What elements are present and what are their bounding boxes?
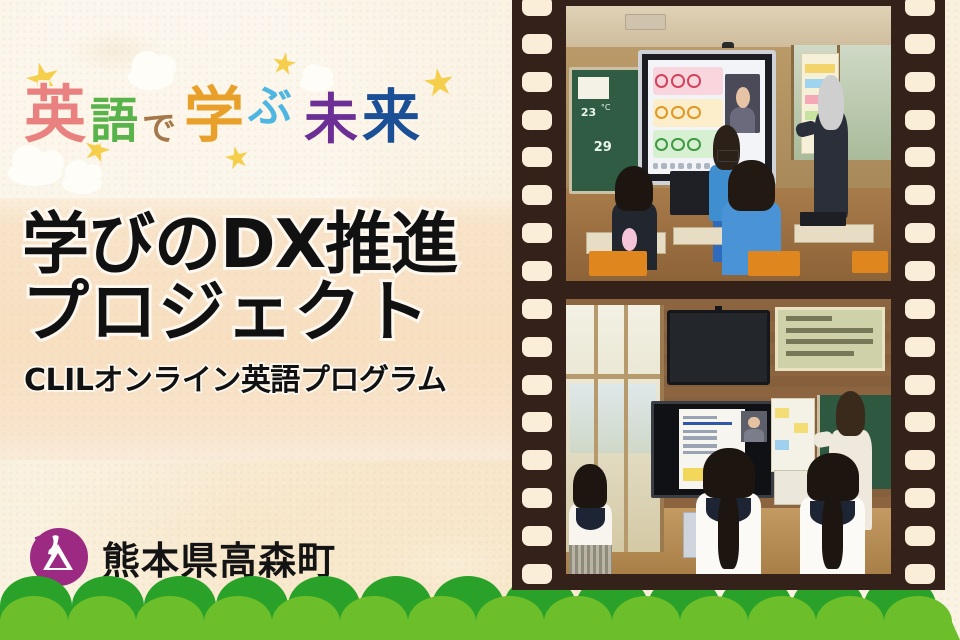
sprocket-hole <box>905 185 935 205</box>
sprocket-hole <box>522 185 552 205</box>
sprocket-hole <box>905 412 935 432</box>
headline-char-7: 来 <box>362 90 420 145</box>
sprocket-hole <box>905 337 935 357</box>
filmstrip-sprockets-left <box>522 0 552 590</box>
laptop <box>800 212 846 226</box>
junior-high-clil-lesson-photo: 中学校の教室：大型ディスプレイに資料とオンライン講師の映像、セーラー服の生徒が視… <box>566 299 891 574</box>
sprocket-hole <box>522 299 552 319</box>
student-center-ponytail <box>696 448 761 575</box>
headline-char-2: 語 <box>90 99 138 145</box>
sprocket-hole <box>522 0 552 16</box>
cloud-icon <box>8 160 62 186</box>
sprocket-hole <box>905 0 935 16</box>
sprocket-hole <box>905 147 935 167</box>
sprocket-hole <box>905 261 935 281</box>
filmstrip: 小学校の教室：電子黒板にオンライン英語のフォニックス教材と講師の映像が表示され、… <box>512 0 945 590</box>
banner-line-2: 自ら学び考え行動する 生徒の育成 <box>778 310 779 311</box>
sprocket-hole <box>905 110 935 130</box>
sprocket-hole <box>905 564 935 584</box>
sprocket-hole <box>522 564 552 584</box>
headline-char-5: ぶ <box>248 86 292 128</box>
sprocket-hole <box>522 375 552 395</box>
sprocket-hole <box>522 34 552 54</box>
page-title-line-1: 学びのDX推進 <box>22 210 457 278</box>
sprocket-hole <box>522 450 552 470</box>
sprocket-hole <box>522 223 552 243</box>
webcam-icon <box>722 42 734 48</box>
elementary-clil-lesson-photo: 小学校の教室：電子黒板にオンライン英語のフォニックス教材と講師の映像が表示され、… <box>566 6 891 281</box>
banner-line-1: ふるさとを愛し 夢の実現に向け <box>778 310 779 311</box>
page-title-line-2: プロジェクト <box>22 278 457 346</box>
sprocket-hole <box>905 223 935 243</box>
student-right-ponytail <box>800 453 865 574</box>
headline-eigo-de-manabu-mirai: 英 語 で 学 ぶ 未 来 <box>24 86 420 145</box>
student-left-sailor-uniform <box>569 464 611 574</box>
sprocket-hole <box>522 110 552 130</box>
poster-canvas: 英 語 で 学 ぶ 未 来 学びのDX推進 プロジェクト CLILオンライン英語… <box>0 0 960 640</box>
sprocket-hole <box>522 261 552 281</box>
sprocket-hole <box>905 299 935 319</box>
sprocket-hole <box>522 337 552 357</box>
sprocket-hole <box>522 526 552 546</box>
sprocket-hole <box>905 375 935 395</box>
school-goal-banner: 学校教育目標 ふるさとを愛し 夢の実現に向け 自ら学び考え行動する 生徒の育成 <box>775 307 885 371</box>
cloud-icon <box>62 172 102 194</box>
sprocket-hole <box>522 72 552 92</box>
banner-heading: 学校教育目標 <box>778 310 779 311</box>
sprocket-hole <box>905 72 935 92</box>
sprocket-hole <box>905 488 935 508</box>
title-block: 学びのDX推進 プロジェクト CLILオンライン英語プログラム <box>22 210 457 399</box>
sprocket-hole <box>522 147 552 167</box>
filmstrip-sprockets-right <box>905 0 935 590</box>
headline-char-1: 英 <box>24 86 86 145</box>
chalkboard-temperature: 23 <box>581 106 596 119</box>
chalkboard-unit: °C <box>601 103 611 112</box>
video-call-participant <box>741 411 767 442</box>
headline-char-4: 学 <box>184 88 244 145</box>
sprocket-hole <box>522 488 552 508</box>
ceiling-mounted-monitor <box>667 310 771 385</box>
headline-char-3: で <box>142 113 176 145</box>
teacher-dark-shirt <box>813 80 849 218</box>
sprocket-hole <box>905 34 935 54</box>
sprocket-hole <box>905 450 935 470</box>
video-call-participant <box>725 74 760 133</box>
sprocket-hole <box>522 412 552 432</box>
title-band: 学びのDX推進 プロジェクト CLILオンライン英語プログラム <box>0 198 512 460</box>
page-subtitle: CLILオンライン英語プログラム <box>24 355 457 399</box>
filmstrip-frames: 小学校の教室：電子黒板にオンライン英語のフォニックス教材と講師の映像が表示され、… <box>566 0 891 590</box>
sprocket-hole <box>905 526 935 546</box>
headline-char-6: 未 <box>304 94 358 145</box>
chalkboard-number: 29 <box>594 140 612 155</box>
